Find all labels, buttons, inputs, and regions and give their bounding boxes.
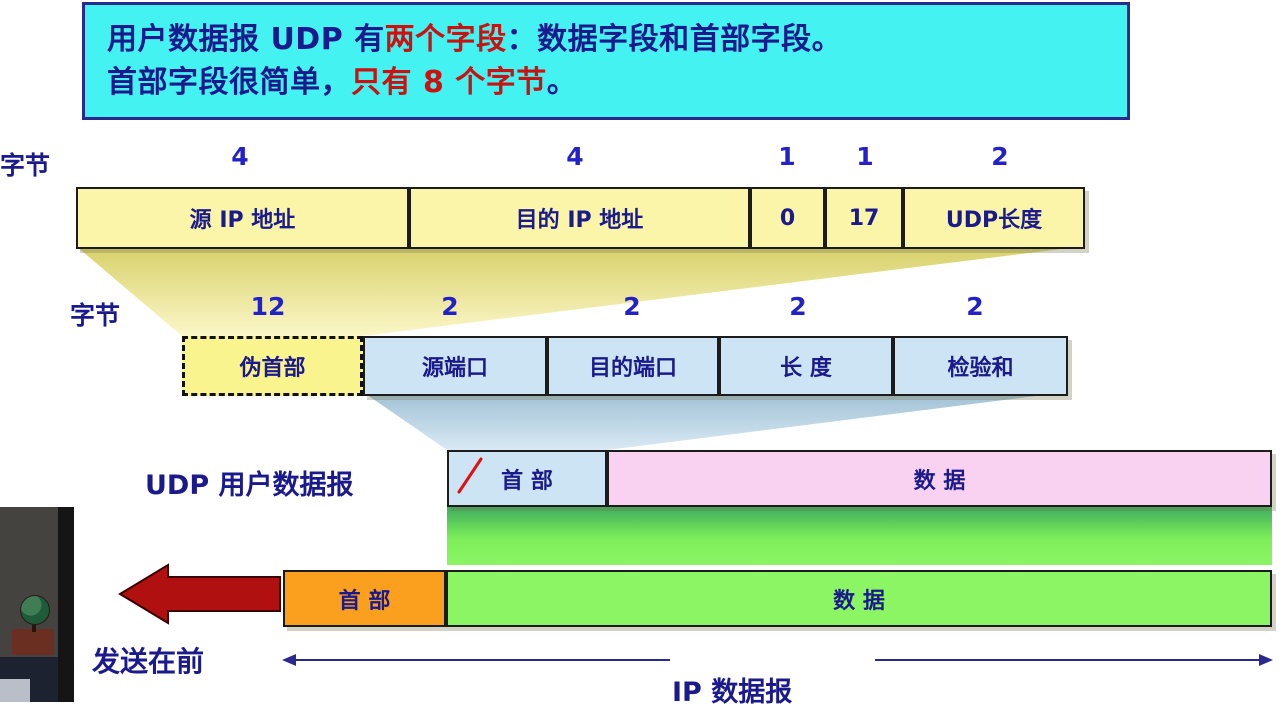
field-checksum: 检验和 <box>893 336 1068 396</box>
row2-bytecount-1: 2 <box>400 292 500 321</box>
row1-unit-label: 字节 <box>0 146 50 182</box>
banner-line1-highlight: 两个字段 <box>385 22 507 57</box>
field-zero: 0 <box>750 187 825 249</box>
udp-datagram-row-label: UDP 用户数据报 <box>145 463 354 502</box>
webcam-dark-edge <box>58 507 74 702</box>
ip-datagram-span-label: IP 数据报 <box>672 670 792 709</box>
row2-bytecount-0: 12 <box>218 292 318 321</box>
field-destination-port: 目的端口 <box>547 336 719 396</box>
funnel-connector-udp-header <box>0 392 1283 452</box>
title-banner: 用户数据报 UDP 有两个字段：数据字段和首部字段。 首部字段很简单，只有 8 … <box>82 2 1130 120</box>
udp-datagram-header-cell: 首 部 <box>447 450 607 507</box>
webcam-table <box>12 629 54 655</box>
send-first-label: 发送在前 <box>92 640 204 680</box>
banner-line-2: 首部字段很简单，只有 8 个字节。 <box>107 61 1127 105</box>
banner-line-1: 用户数据报 UDP 有两个字段：数据字段和首部字段。 <box>107 18 1127 62</box>
ip-datagram-header-cell: 首 部 <box>283 570 446 627</box>
row1-bytecount-1: 4 <box>515 142 635 171</box>
ip-datagram-data-cell: 数 据 <box>446 570 1272 627</box>
field-length: 长 度 <box>719 336 893 396</box>
webcam-bed <box>0 679 30 702</box>
field-protocol-17: 17 <box>825 187 903 249</box>
field-pseudo-header: 伪首部 <box>182 336 363 396</box>
field-source-port: 源端口 <box>363 336 547 396</box>
row2-bytecount-3: 2 <box>748 292 848 321</box>
row2-bytecount-2: 2 <box>582 292 682 321</box>
row2-unit-label: 字节 <box>70 296 120 332</box>
webcam-globe <box>20 595 50 625</box>
row1-bytecount-4: 2 <box>920 142 1080 171</box>
banner-line1-part3: ：数据字段和首部字段。 <box>507 22 843 57</box>
field-udp-length: UDP长度 <box>903 187 1085 249</box>
field-destination-ip-address: 目的 IP 地址 <box>409 187 750 249</box>
udp-datagram-header-label: 首 部 <box>501 463 553 495</box>
banner-line2-part1: 首部字段很简单， <box>107 65 351 100</box>
row1-bytecount-0: 4 <box>180 142 300 171</box>
webcam-video-thumbnail[interactable] <box>0 507 74 702</box>
green-connector-band <box>447 505 1272 565</box>
banner-line2-highlight: 只有 8 个字节 <box>351 65 547 100</box>
banner-line1-part1: 用户数据报 UDP 有 <box>107 22 385 57</box>
row1-bytecount-2: 1 <box>752 142 822 171</box>
banner-line2-part3: 。 <box>547 65 578 100</box>
red-slash-annotation-icon <box>457 456 483 496</box>
row2-bytecount-4: 2 <box>925 292 1025 321</box>
row1-bytecount-3: 1 <box>830 142 900 171</box>
field-source-ip-address: 源 IP 地址 <box>76 187 409 249</box>
udp-datagram-data-cell: 数 据 <box>607 450 1272 507</box>
